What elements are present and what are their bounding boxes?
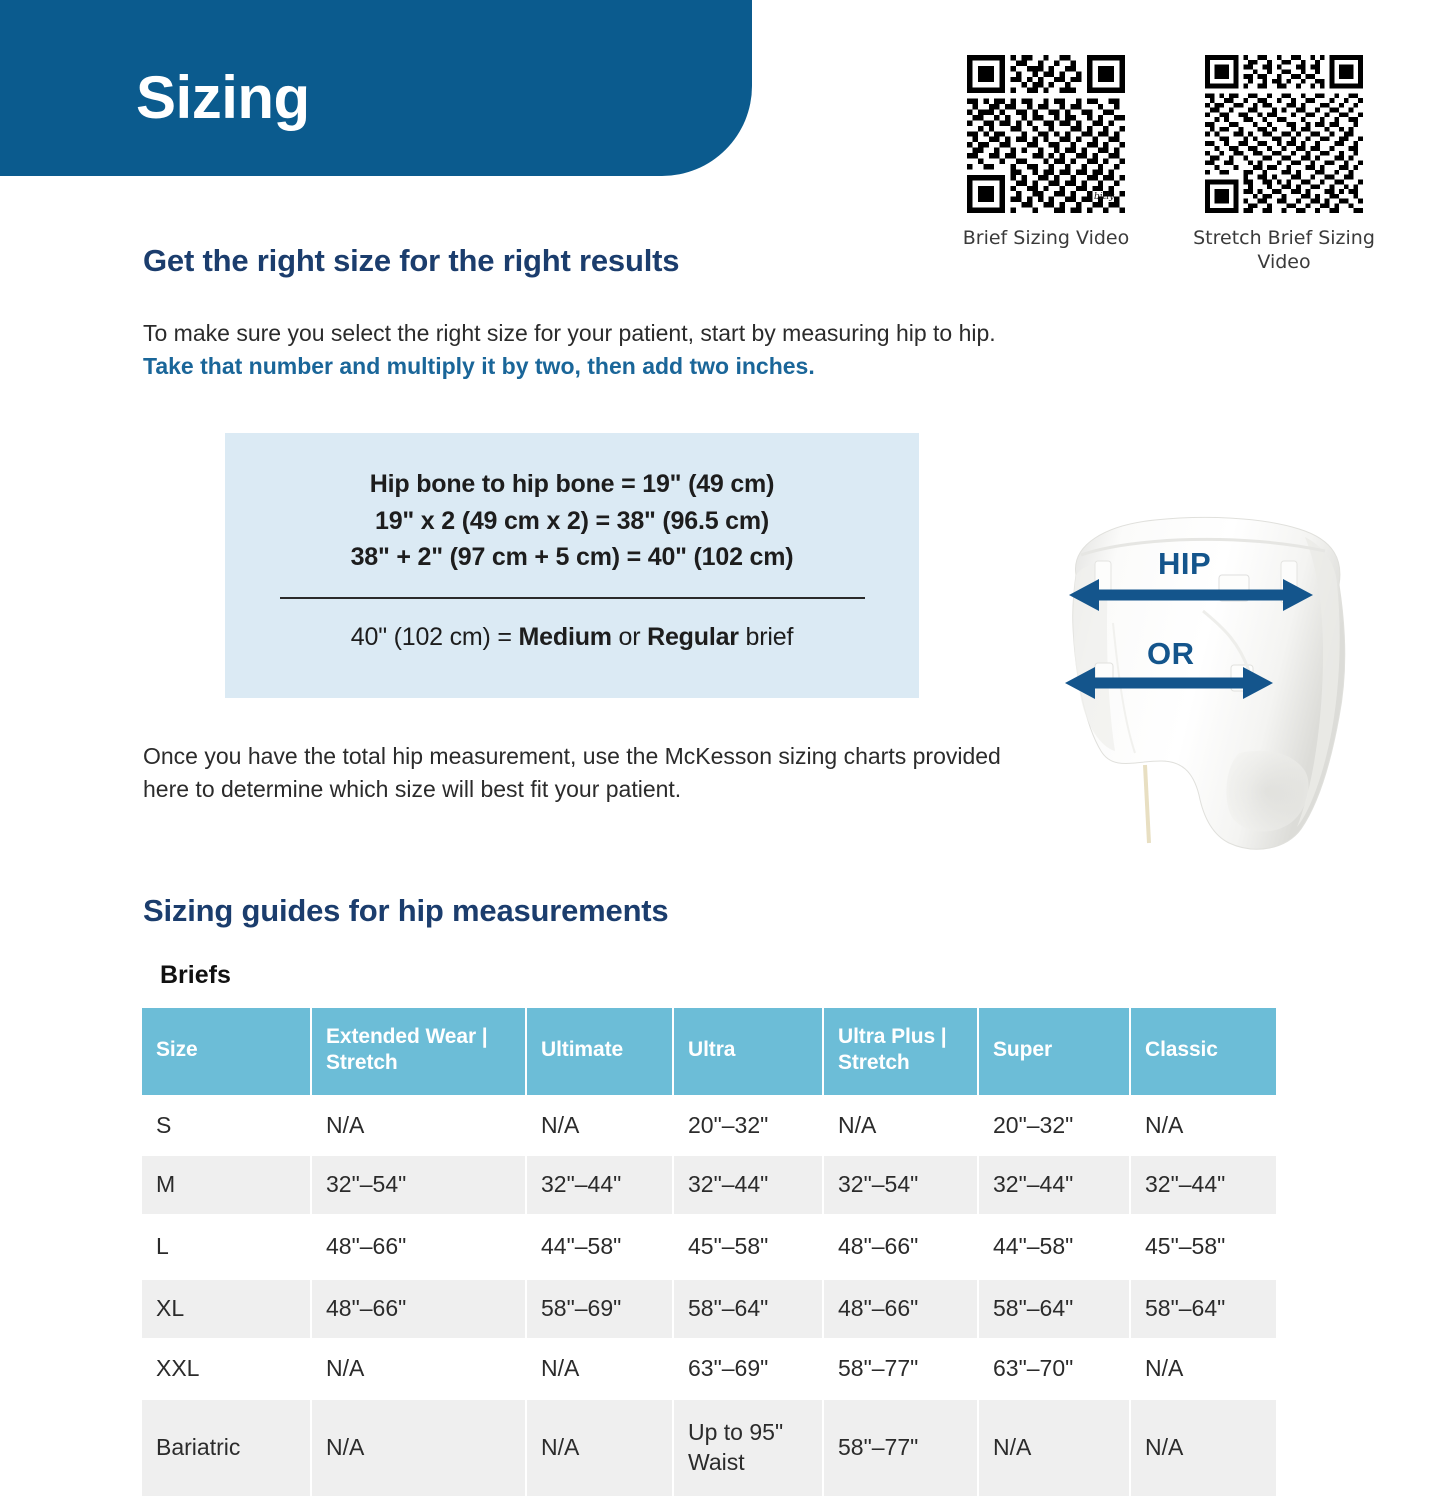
cell-ultimate: N/A [527,1400,672,1496]
cell-ultra-plus: 58"–77" [824,1400,977,1496]
cell-size: XL [142,1280,310,1338]
intro-paragraph: To make sure you select the right size f… [143,317,1043,384]
cell-ultimate: 44"–58" [527,1216,672,1278]
cell-super: 63"–70" [979,1340,1129,1398]
column-header-extended-wear-stretch: Extended Wear | Stretch [312,1008,525,1095]
table-row: Bariatric N/A N/A Up to 95" Waist 58"–77… [142,1400,1276,1496]
table-subtitle-briefs: Briefs [160,961,231,990]
cell-size: XXL [142,1340,310,1398]
cell-ultra-plus: 32"–54" [824,1156,977,1214]
cell-extended-wear: 48"–66" [312,1280,525,1338]
table-body: S N/A N/A 20"–32" N/A 20"–32" N/A M 32"–… [142,1097,1276,1497]
calculation-example-box: Hip bone to hip bone = 19" (49 cm) 19" x… [225,433,919,698]
cell-extended-wear: N/A [312,1400,525,1496]
calc-result-size-medium: Medium [519,623,612,651]
table-row: XL 48"–66" 58"–69" 58"–64" 48"–66" 58"–6… [142,1280,1276,1338]
cell-extended-wear: N/A [312,1340,525,1398]
qr-block-brief-sizing-video[interactable]: Brief Sizing Video [940,55,1152,251]
cell-ultra: 32"–44" [674,1156,822,1214]
table-row: S N/A N/A 20"–32" N/A 20"–32" N/A [142,1097,1276,1155]
column-header-super: Super [979,1008,1129,1095]
table-header-row: Size Extended Wear | Stretch Ultimate Ul… [142,1008,1276,1095]
cell-classic: 45"–58" [1131,1216,1276,1278]
heading-get-right-size: Get the right size for the right results [143,243,679,279]
cell-size: M [142,1156,310,1214]
cell-super: 32"–44" [979,1156,1129,1214]
qr-code-icon[interactable] [1205,55,1363,213]
cell-ultra-plus: N/A [824,1097,977,1155]
sizing-table-briefs: Size Extended Wear | Stretch Ultimate Ul… [140,1006,1278,1498]
calc-divider [280,597,865,599]
calc-result-conjunction: or [612,623,647,651]
cell-size: L [142,1216,310,1278]
calculation-lines: Hip bone to hip bone = 19" (49 cm) 19" x… [225,433,919,576]
heading-sizing-guides: Sizing guides for hip measurements [143,893,668,929]
table-row: M 32"–54" 32"–44" 32"–44" 32"–54" 32"–44… [142,1156,1276,1214]
column-header-ultra-plus-stretch: Ultra Plus | Stretch [824,1008,977,1095]
cell-ultra-plus: 48"–66" [824,1216,977,1278]
cell-ultimate: N/A [527,1340,672,1398]
calc-result-prefix: 40" (102 cm) = [351,623,519,651]
calc-line-1: Hip bone to hip bone = 19" (49 cm) [225,466,919,503]
cell-extended-wear: 32"–54" [312,1156,525,1214]
calc-result-suffix: brief [739,623,793,651]
cell-extended-wear: 48"–66" [312,1216,525,1278]
column-header-size: Size [142,1008,310,1095]
cell-ultimate: 58"–69" [527,1280,672,1338]
calc-result: 40" (102 cm) = Medium or Regular brief [225,623,919,652]
calc-result-size-regular: Regular [647,623,739,651]
cell-ultra-plus: 58"–77" [824,1340,977,1398]
header-banner [0,0,752,176]
cell-classic: 58"–64" [1131,1280,1276,1338]
cell-ultimate: 32"–44" [527,1156,672,1214]
cell-classic: N/A [1131,1340,1276,1398]
cell-classic: N/A [1131,1097,1276,1155]
cell-super: 20"–32" [979,1097,1129,1155]
cell-ultimate: N/A [527,1097,672,1155]
cell-size: S [142,1097,310,1155]
qr-caption-brief: Brief Sizing Video [940,227,1152,251]
sizing-table-container: Size Extended Wear | Stretch Ultimate Ul… [140,1006,1270,1498]
bitly-watermark: bitly [1094,192,1114,202]
table-row: L 48"–66" 44"–58" 45"–58" 48"–66" 44"–58… [142,1216,1276,1278]
cell-classic: N/A [1131,1400,1276,1496]
hip-measure-label: HIP [1158,546,1211,582]
qr-block-stretch-brief-sizing-video[interactable]: Stretch Brief Sizing Video [1178,55,1390,275]
cell-extended-wear: N/A [312,1097,525,1155]
table-header: Size Extended Wear | Stretch Ultimate Ul… [142,1008,1276,1095]
qr-caption-stretch: Stretch Brief Sizing Video [1178,227,1390,275]
cell-super: 44"–58" [979,1216,1129,1278]
cell-ultra: Up to 95" Waist [674,1400,822,1496]
or-measure-label: OR [1147,636,1195,672]
cell-ultra: 45"–58" [674,1216,822,1278]
cell-ultra: 58"–64" [674,1280,822,1338]
cell-ultra: 63"–69" [674,1340,822,1398]
column-header-ultra: Ultra [674,1008,822,1095]
calc-line-3: 38" + 2" (97 cm + 5 cm) = 40" (102 cm) [225,539,919,576]
qr-code-icon[interactable] [967,55,1125,213]
intro-paragraph-plain: To make sure you select the right size f… [143,320,996,346]
calc-line-2: 19" x 2 (49 cm x 2) = 38" (96.5 cm) [225,503,919,540]
cell-ultra: 20"–32" [674,1097,822,1155]
cell-super: N/A [979,1400,1129,1496]
cell-classic: 32"–44" [1131,1156,1276,1214]
column-header-ultimate: Ultimate [527,1008,672,1095]
table-row: XXL N/A N/A 63"–69" 58"–77" 63"–70" N/A [142,1340,1276,1398]
cell-super: 58"–64" [979,1280,1129,1338]
cell-size: Bariatric [142,1400,310,1496]
post-paragraph: Once you have the total hip measurement,… [143,740,1003,807]
column-header-classic: Classic [1131,1008,1276,1095]
intro-paragraph-emphasis: Take that number and multiply it by two,… [143,353,815,379]
page-title: Sizing [136,68,310,128]
cell-ultra-plus: 48"–66" [824,1280,977,1338]
